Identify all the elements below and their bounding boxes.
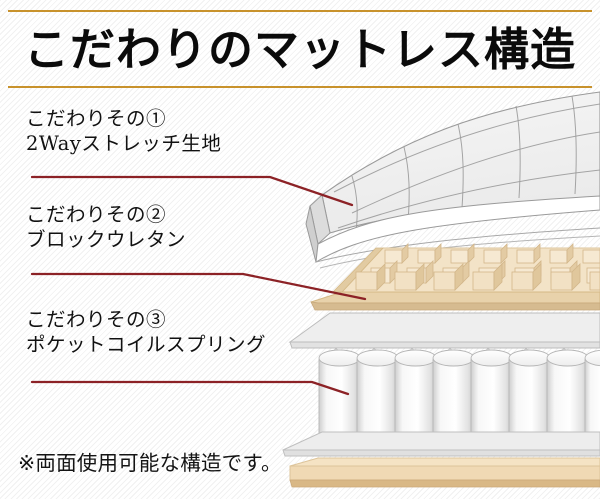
callout-2-index: こだわりその② — [26, 202, 186, 227]
callout-quilted-cover: こだわりその① 2Wayストレッチ生地 — [26, 106, 221, 156]
base-board-layer — [290, 458, 600, 487]
product-feature-panel: こだわりのマットレス構造 こだわりその① 2Wayストレッチ生地 こだわりその②… — [0, 0, 600, 499]
pocket-coil-layer — [290, 313, 600, 436]
leader-line-1 — [32, 177, 352, 205]
callout-urethane-block: こだわりその② ブロックウレタン — [26, 202, 186, 252]
callout-pocket-coil: こだわりその③ ポケットコイルスプリング — [26, 307, 266, 357]
footer-note: ※両面使用可能な構造です。 — [18, 450, 282, 476]
callout-3-index: こだわりその③ — [26, 307, 266, 332]
callout-3-name: ポケットコイルスプリング — [26, 332, 266, 357]
urethane-block-layer — [311, 244, 600, 310]
page-title: こだわりのマットレス構造 — [0, 18, 600, 82]
header: こだわりのマットレス構造 — [0, 0, 600, 92]
header-rule-bottom — [8, 86, 592, 88]
base-felt-layer — [283, 432, 600, 456]
callout-1-name: 2Wayストレッチ生地 — [26, 131, 221, 156]
quilted-cover-layer — [306, 92, 600, 268]
header-rule-top — [8, 10, 592, 12]
leader-line-2 — [32, 274, 365, 299]
leader-line-3 — [32, 382, 348, 394]
callout-1-index: こだわりその① — [26, 106, 221, 131]
callout-2-name: ブロックウレタン — [26, 227, 186, 252]
